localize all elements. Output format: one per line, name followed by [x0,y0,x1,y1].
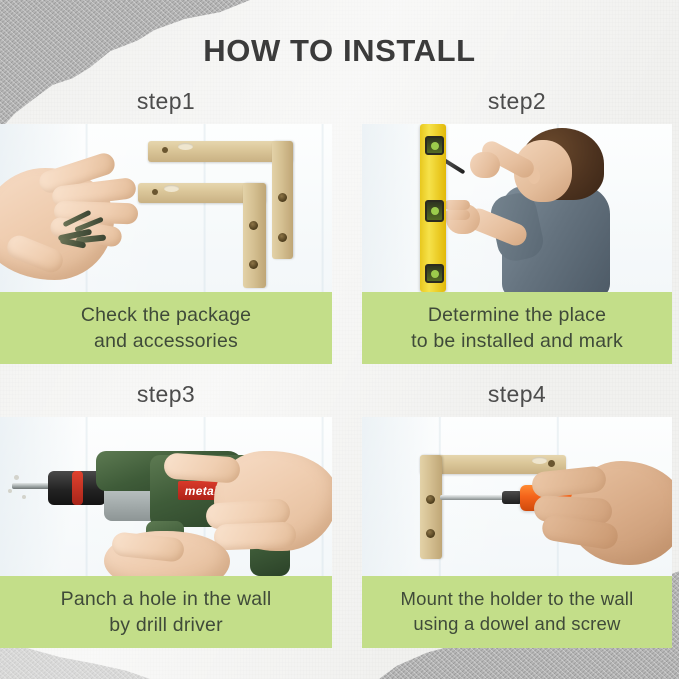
step-card-1: Check the package and accessories [0,124,332,364]
page-title: HOW TO INSTALL [0,33,679,69]
step-caption-3: Panch a hole in the wall by drill driver [0,576,332,648]
step-caption-2-line2: to be installed and mark [411,328,623,354]
step-caption-1-line1: Check the package [81,302,251,328]
step-caption-3-line1: Panch a hole in the wall [61,586,272,612]
step-caption-4-line1: Mount the holder to the wall [401,587,634,612]
step-card-4: Mount the holder to the wall using a dow… [362,417,672,648]
wooden-bracket-front [138,183,266,288]
step-caption-2: Determine the place to be installed and … [362,292,672,364]
step-photo-1 [0,124,332,292]
step-caption-4: Mount the holder to the wall using a dow… [362,576,672,648]
step-caption-1: Check the package and accessories [0,292,332,364]
step-label-2: step2 [362,88,672,115]
spirit-level [420,124,446,292]
step-caption-1-line2: and accessories [94,328,238,354]
step-caption-3-line2: by drill driver [109,612,223,638]
step-card-2: Determine the place to be installed and … [362,124,672,364]
step-photo-4 [362,417,672,576]
step-label-4: step4 [362,381,672,408]
step-photo-2 [362,124,672,292]
step-label-1: step1 [0,88,332,115]
step-caption-2-line1: Determine the place [428,302,606,328]
step-photo-3: metabo [0,417,332,576]
step-caption-4-line2: using a dowel and screw [413,612,620,637]
how-to-install-poster: HOW TO INSTALL step1 [0,0,679,679]
step-card-3: metabo Panch a hole in the wall by drill… [0,417,332,648]
step-label-3: step3 [0,381,332,408]
